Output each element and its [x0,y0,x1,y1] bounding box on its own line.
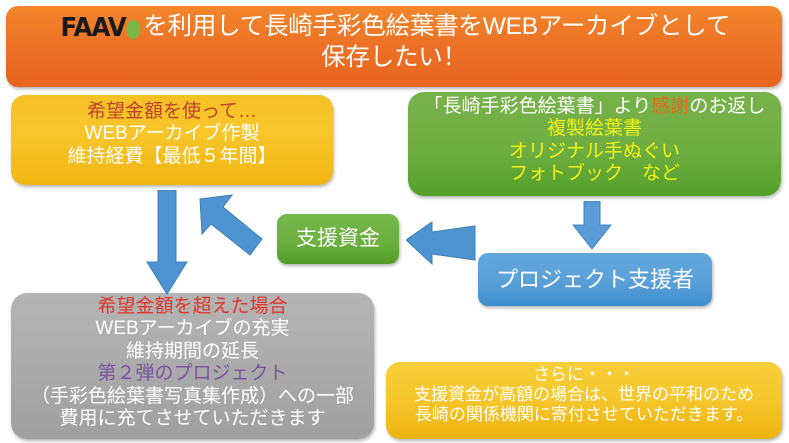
reward-line-1-part-a: 「長崎手彩色絵葉書」より [424,96,652,117]
donation-box: さらに・・・ 支援資金が高額の場合は、世界の平和のため 長崎の関係機関に寄付させ… [386,362,782,439]
arrow-up-left-funds-to-cost-icon [198,193,264,259]
overflow-line-3: 維持期間の延長 [11,341,374,363]
reward-line-3: オリジナル手ぬぐい [408,141,781,163]
funds-box: 支援資金 [277,214,399,264]
supporter-box: プロジェクト支援者 [478,253,712,306]
arrow-left-supporter-to-funds-icon [406,220,476,268]
reward-line-1: 「長崎手彩色絵葉書」より感謝のお返し [408,96,781,118]
diagram-canvas: FAAVを利用して長崎手彩色絵葉書をWEBアーカイブとして 保存したい！ 希望金… [0,0,789,443]
arrow-down-cost-to-overflow-icon [146,190,188,296]
overflow-line-6: 費用に充てさせていただきます [11,408,374,430]
reward-line-1-highlight: 感謝 [651,96,689,117]
overflow-line-5: （手彩色絵葉書写真集作成）への一部 [11,386,374,408]
cost-box: 希望金額を使って… WEBアーカイブ作製 維持経費【最低５年間】 [11,95,333,185]
header-line-1-text: を利用して長崎手彩色絵葉書をWEBアーカイブとして [143,13,730,40]
arrow-down-reward-to-supporter-icon [572,201,612,251]
faavo-logo: FAAV [60,13,140,44]
header-line-1: FAAVを利用して長崎手彩色絵葉書をWEBアーカイブとして [16,13,772,44]
funds-box-label: 支援資金 [296,227,380,250]
donation-line-2: 支援資金が高額の場合は、世界の平和のため [386,385,782,405]
reward-line-2: 複製絵葉書 [408,118,781,140]
header-banner: FAAVを利用して長崎手彩色絵葉書をWEBアーカイブとして 保存したい！ [6,6,782,87]
overflow-line-2: WEBアーカイブの充実 [11,318,374,340]
donation-line-1: さらに・・・ [386,365,782,385]
reward-line-4: フォトブック など [408,163,781,185]
reward-box: 「長崎手彩色絵葉書」より感謝のお返し 複製絵葉書 オリジナル手ぬぐい フォトブッ… [408,92,781,196]
overflow-box: 希望金額を超えた場合 WEBアーカイブの充実 維持期間の延長 第２弾のプロジェク… [11,293,374,439]
cost-line-1: 希望金額を使って… [11,101,333,123]
faavo-green-circle-icon [127,20,141,39]
cost-line-3: 維持経費【最低５年間】 [11,146,333,168]
header-line-2: 保存したい！ [16,44,772,73]
overflow-line-1: 希望金額を超えた場合 [11,296,374,318]
donation-line-3: 長崎の関係機関に寄付させていただきます。 [386,405,782,425]
reward-line-1-part-c: のお返し [689,96,765,117]
faavo-logo-text: FAAV [60,13,125,43]
overflow-line-4: 第２弾のプロジェクト [11,363,374,385]
cost-line-2: WEBアーカイブ作製 [11,123,333,145]
supporter-box-label: プロジェクト支援者 [496,267,694,292]
